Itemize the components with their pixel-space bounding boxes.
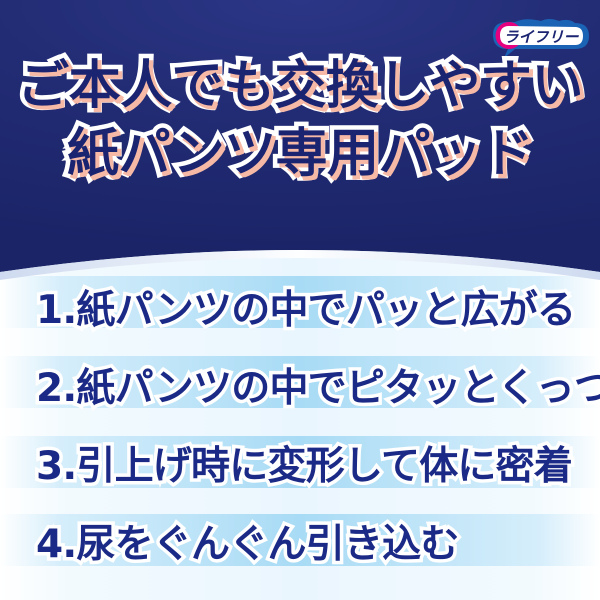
headline-line-1: ご本人でも交換しやすい: [0, 56, 600, 112]
list-item: 4.尿をぐんぐん引き込む: [0, 502, 600, 580]
feature-item-1-text: 1.紙パンツの中でパッと広がる: [0, 279, 575, 335]
feature-item-4-text: 4.尿をぐんぐん引き込む: [0, 513, 459, 569]
feature-item-2-text: 2.紙パンツの中でピタッとくっつく: [0, 357, 600, 413]
feature-item-3-text: 3.引上げ時に変形して体に密着: [0, 435, 572, 491]
list-item: 3.引上げ時に変形して体に密着: [0, 424, 600, 502]
list-item: 1.紙パンツの中でパッと広がる: [0, 268, 600, 346]
logo-text: ライフリー: [503, 28, 579, 46]
feature-list: 1.紙パンツの中でパッと広がる 2.紙パンツの中でピタッとくっつく 3.引上げ時…: [0, 268, 600, 580]
product-banner: ライフリー ご本人でも交換しやすい 紙パンツ専用パッド 1.紙パンツの中でパッと…: [0, 0, 600, 600]
headline: ご本人でも交換しやすい 紙パンツ専用パッド: [0, 56, 600, 180]
headline-line-2: 紙パンツ専用パッド: [0, 112, 600, 180]
list-item: 2.紙パンツの中でピタッとくっつく: [0, 346, 600, 424]
